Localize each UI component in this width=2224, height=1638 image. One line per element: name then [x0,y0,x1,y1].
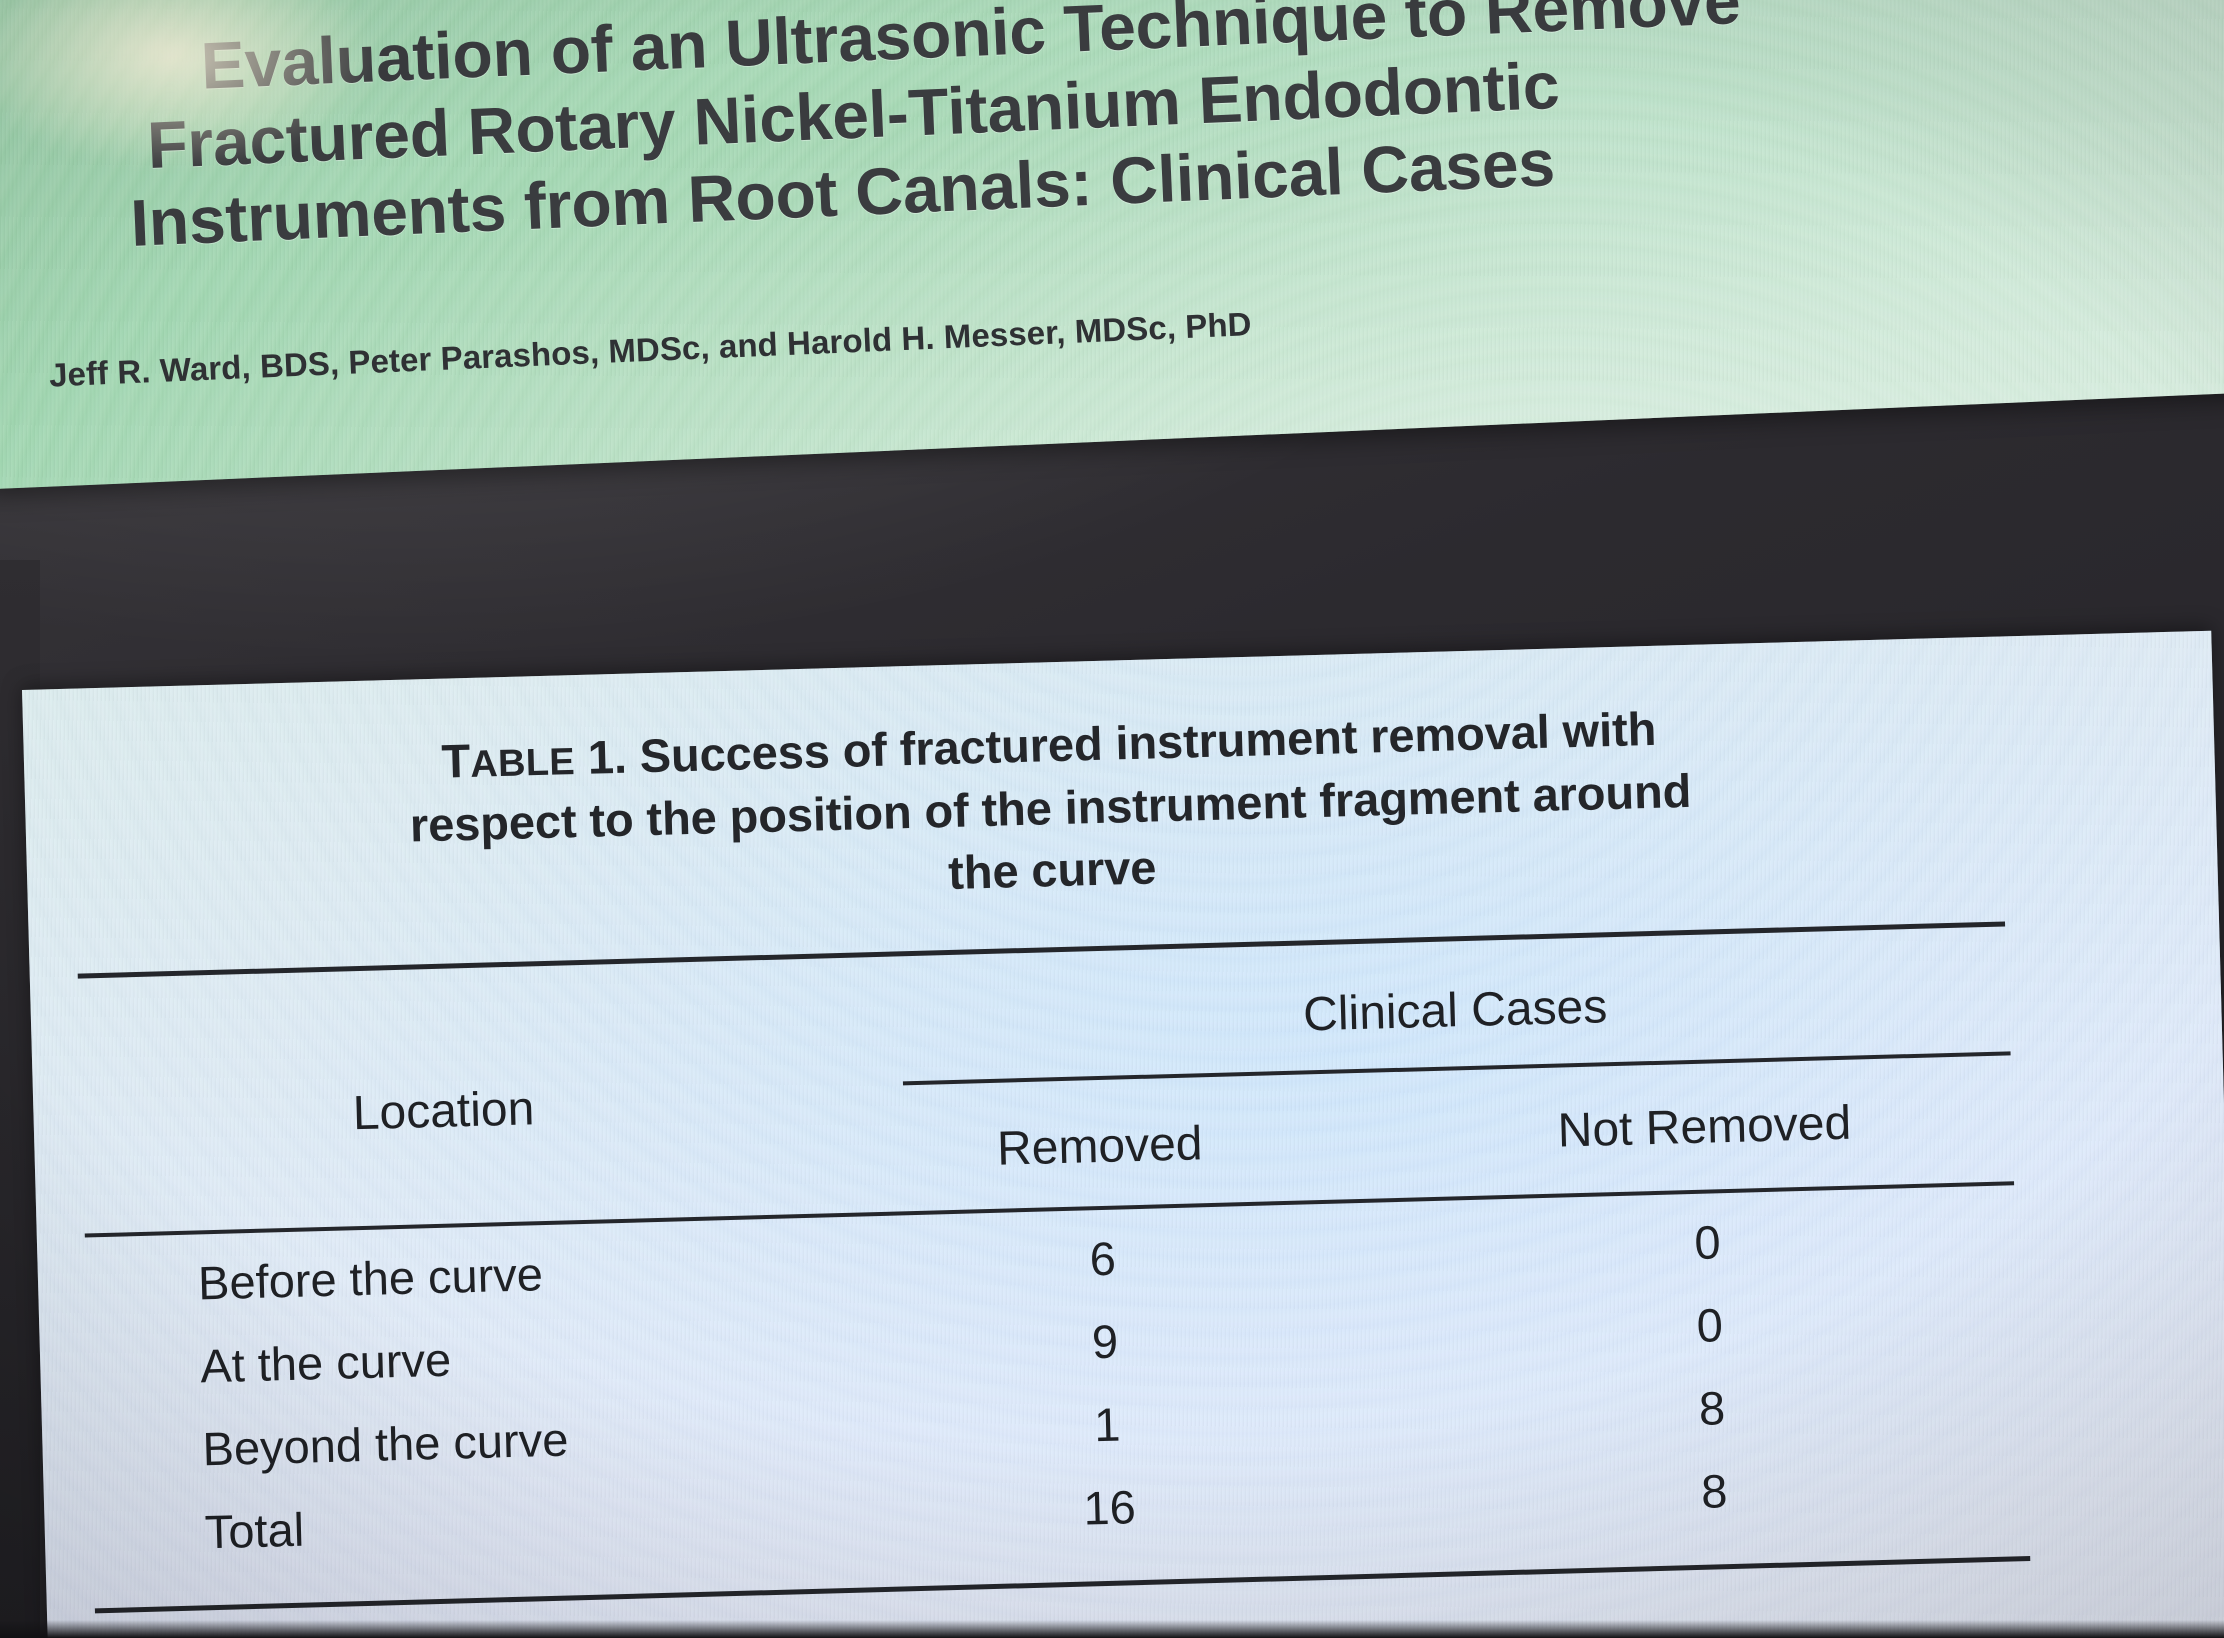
table-caption: TABLE 1. Success of fractured instrument… [23,687,2077,930]
table-rule-top [78,921,2005,978]
table-label-number: 1. [574,729,640,784]
cell-removed: 9 [894,1308,1315,1374]
cell-location: At the curve [200,1332,452,1394]
table-rule-group [903,1051,2011,1085]
photo-of-presentation-slides: Evaluation of an Ultrasonic Technique to… [0,0,2224,1638]
cell-location: Before the curve [197,1246,543,1310]
table-slide-panel: TABLE 1. Success of fractured instrument… [22,631,2224,1638]
column-header-removed: Removed [889,1113,1310,1179]
column-group-header-clinical-cases: Clinical Cases [901,968,2010,1053]
cell-removed: 6 [892,1225,1313,1291]
cell-location: Total [204,1502,305,1560]
column-header-location: Location [183,1077,704,1146]
cell-removed: 1 [897,1391,1318,1457]
table-label-able: ABLE [470,741,576,786]
column-header-not-removed: Not Removed [1394,1091,2015,1163]
author-byline: Jeff R. Ward, BDS, Peter Parashos, MDSc,… [48,305,1252,394]
bottom-dark-edge [0,1620,2224,1638]
table-label-t: T [441,734,471,788]
cell-not-removed: 0 [1397,1206,2018,1278]
paper-title: Evaluation of an Ultrasonic Technique to… [25,0,2213,267]
cell-location: Beyond the curve [202,1412,569,1477]
table-body: Before the curve 6 0 At the curve 9 0 Be… [37,1204,2095,1591]
cell-removed: 16 [899,1474,1320,1540]
